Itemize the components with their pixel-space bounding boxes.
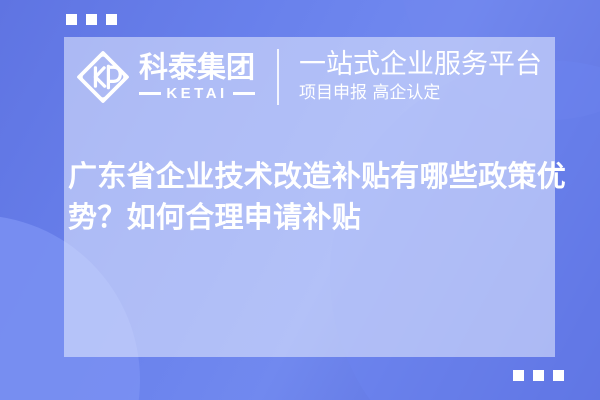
logo-name-en: KETAI bbox=[166, 86, 227, 101]
slogan-block: 一站式企业服务平台 项目申报 高企认定 bbox=[299, 50, 542, 104]
decor-square bbox=[513, 370, 524, 381]
logo-en-row: KETAI bbox=[139, 86, 255, 101]
page-title: 广东省企业技术改造补贴有哪些政策优势？如何合理申请补贴 bbox=[68, 156, 568, 238]
decor-square bbox=[66, 14, 77, 25]
bottom-right-square-decoration bbox=[513, 370, 564, 381]
decor-square bbox=[533, 370, 544, 381]
ketai-diamond-monogram-icon bbox=[76, 50, 130, 104]
decor-square bbox=[553, 370, 564, 381]
brand-divider bbox=[277, 49, 279, 105]
slogan-main: 一站式企业服务平台 bbox=[299, 50, 542, 80]
logo-lockup: 科泰集团 KETAI bbox=[76, 50, 255, 104]
slogan-sub: 项目申报 高企认定 bbox=[299, 83, 542, 104]
logo-name-cn: 科泰集团 bbox=[139, 53, 255, 83]
promo-banner: 科泰集团 KETAI 一站式企业服务平台 项目申报 高企认定 广东省企业技术改造… bbox=[0, 0, 600, 400]
brand-header: 科泰集团 KETAI 一站式企业服务平台 项目申报 高企认定 bbox=[64, 46, 555, 108]
logo-wordmark: 科泰集团 KETAI bbox=[139, 53, 255, 101]
decor-square bbox=[86, 14, 97, 25]
top-left-square-decoration bbox=[66, 14, 117, 25]
logo-rule-left bbox=[139, 92, 161, 95]
decor-square bbox=[106, 14, 117, 25]
logo-rule-right bbox=[233, 92, 255, 95]
